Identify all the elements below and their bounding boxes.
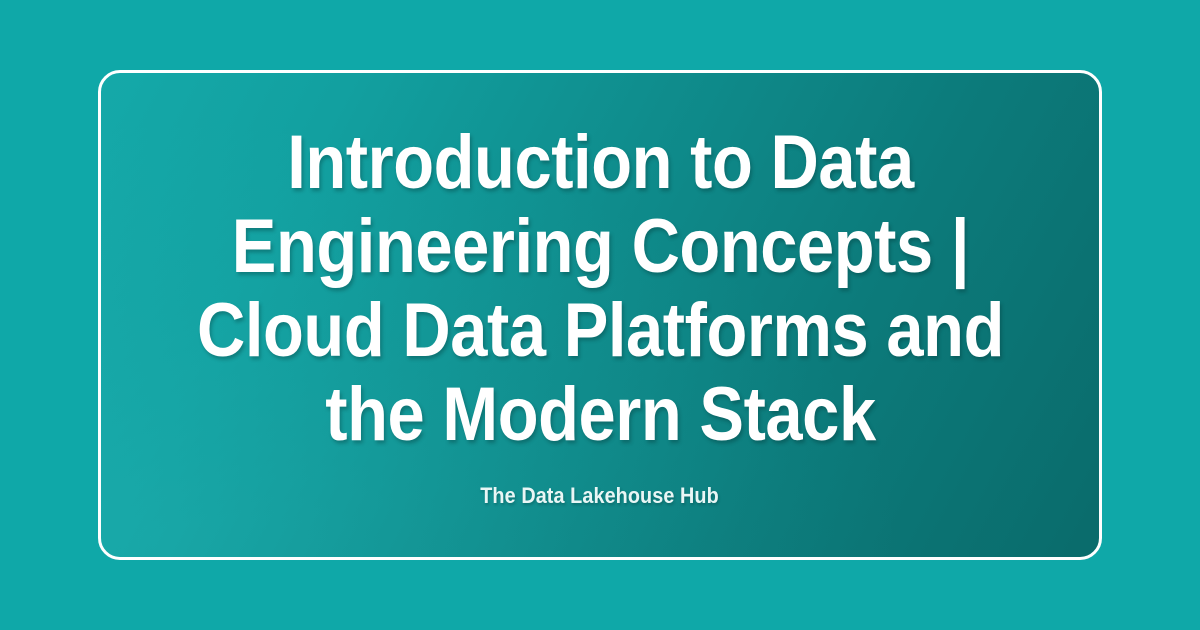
social-card-canvas: Introduction to Data Engineering Concept…	[0, 0, 1200, 630]
hero-card: Introduction to Data Engineering Concept…	[98, 70, 1102, 560]
hero-card-content: Introduction to Data Engineering Concept…	[141, 121, 1059, 509]
page-title: Introduction to Data Engineering Concept…	[197, 121, 1004, 457]
title-line-2: Engineering Concepts |	[197, 205, 1004, 289]
title-line-1: Introduction to Data	[197, 121, 1004, 205]
title-line-4: the Modern Stack	[197, 373, 1004, 457]
title-line-3: Cloud Data Platforms and	[197, 289, 1004, 373]
site-name-subtitle: The Data Lakehouse Hub	[481, 483, 720, 509]
